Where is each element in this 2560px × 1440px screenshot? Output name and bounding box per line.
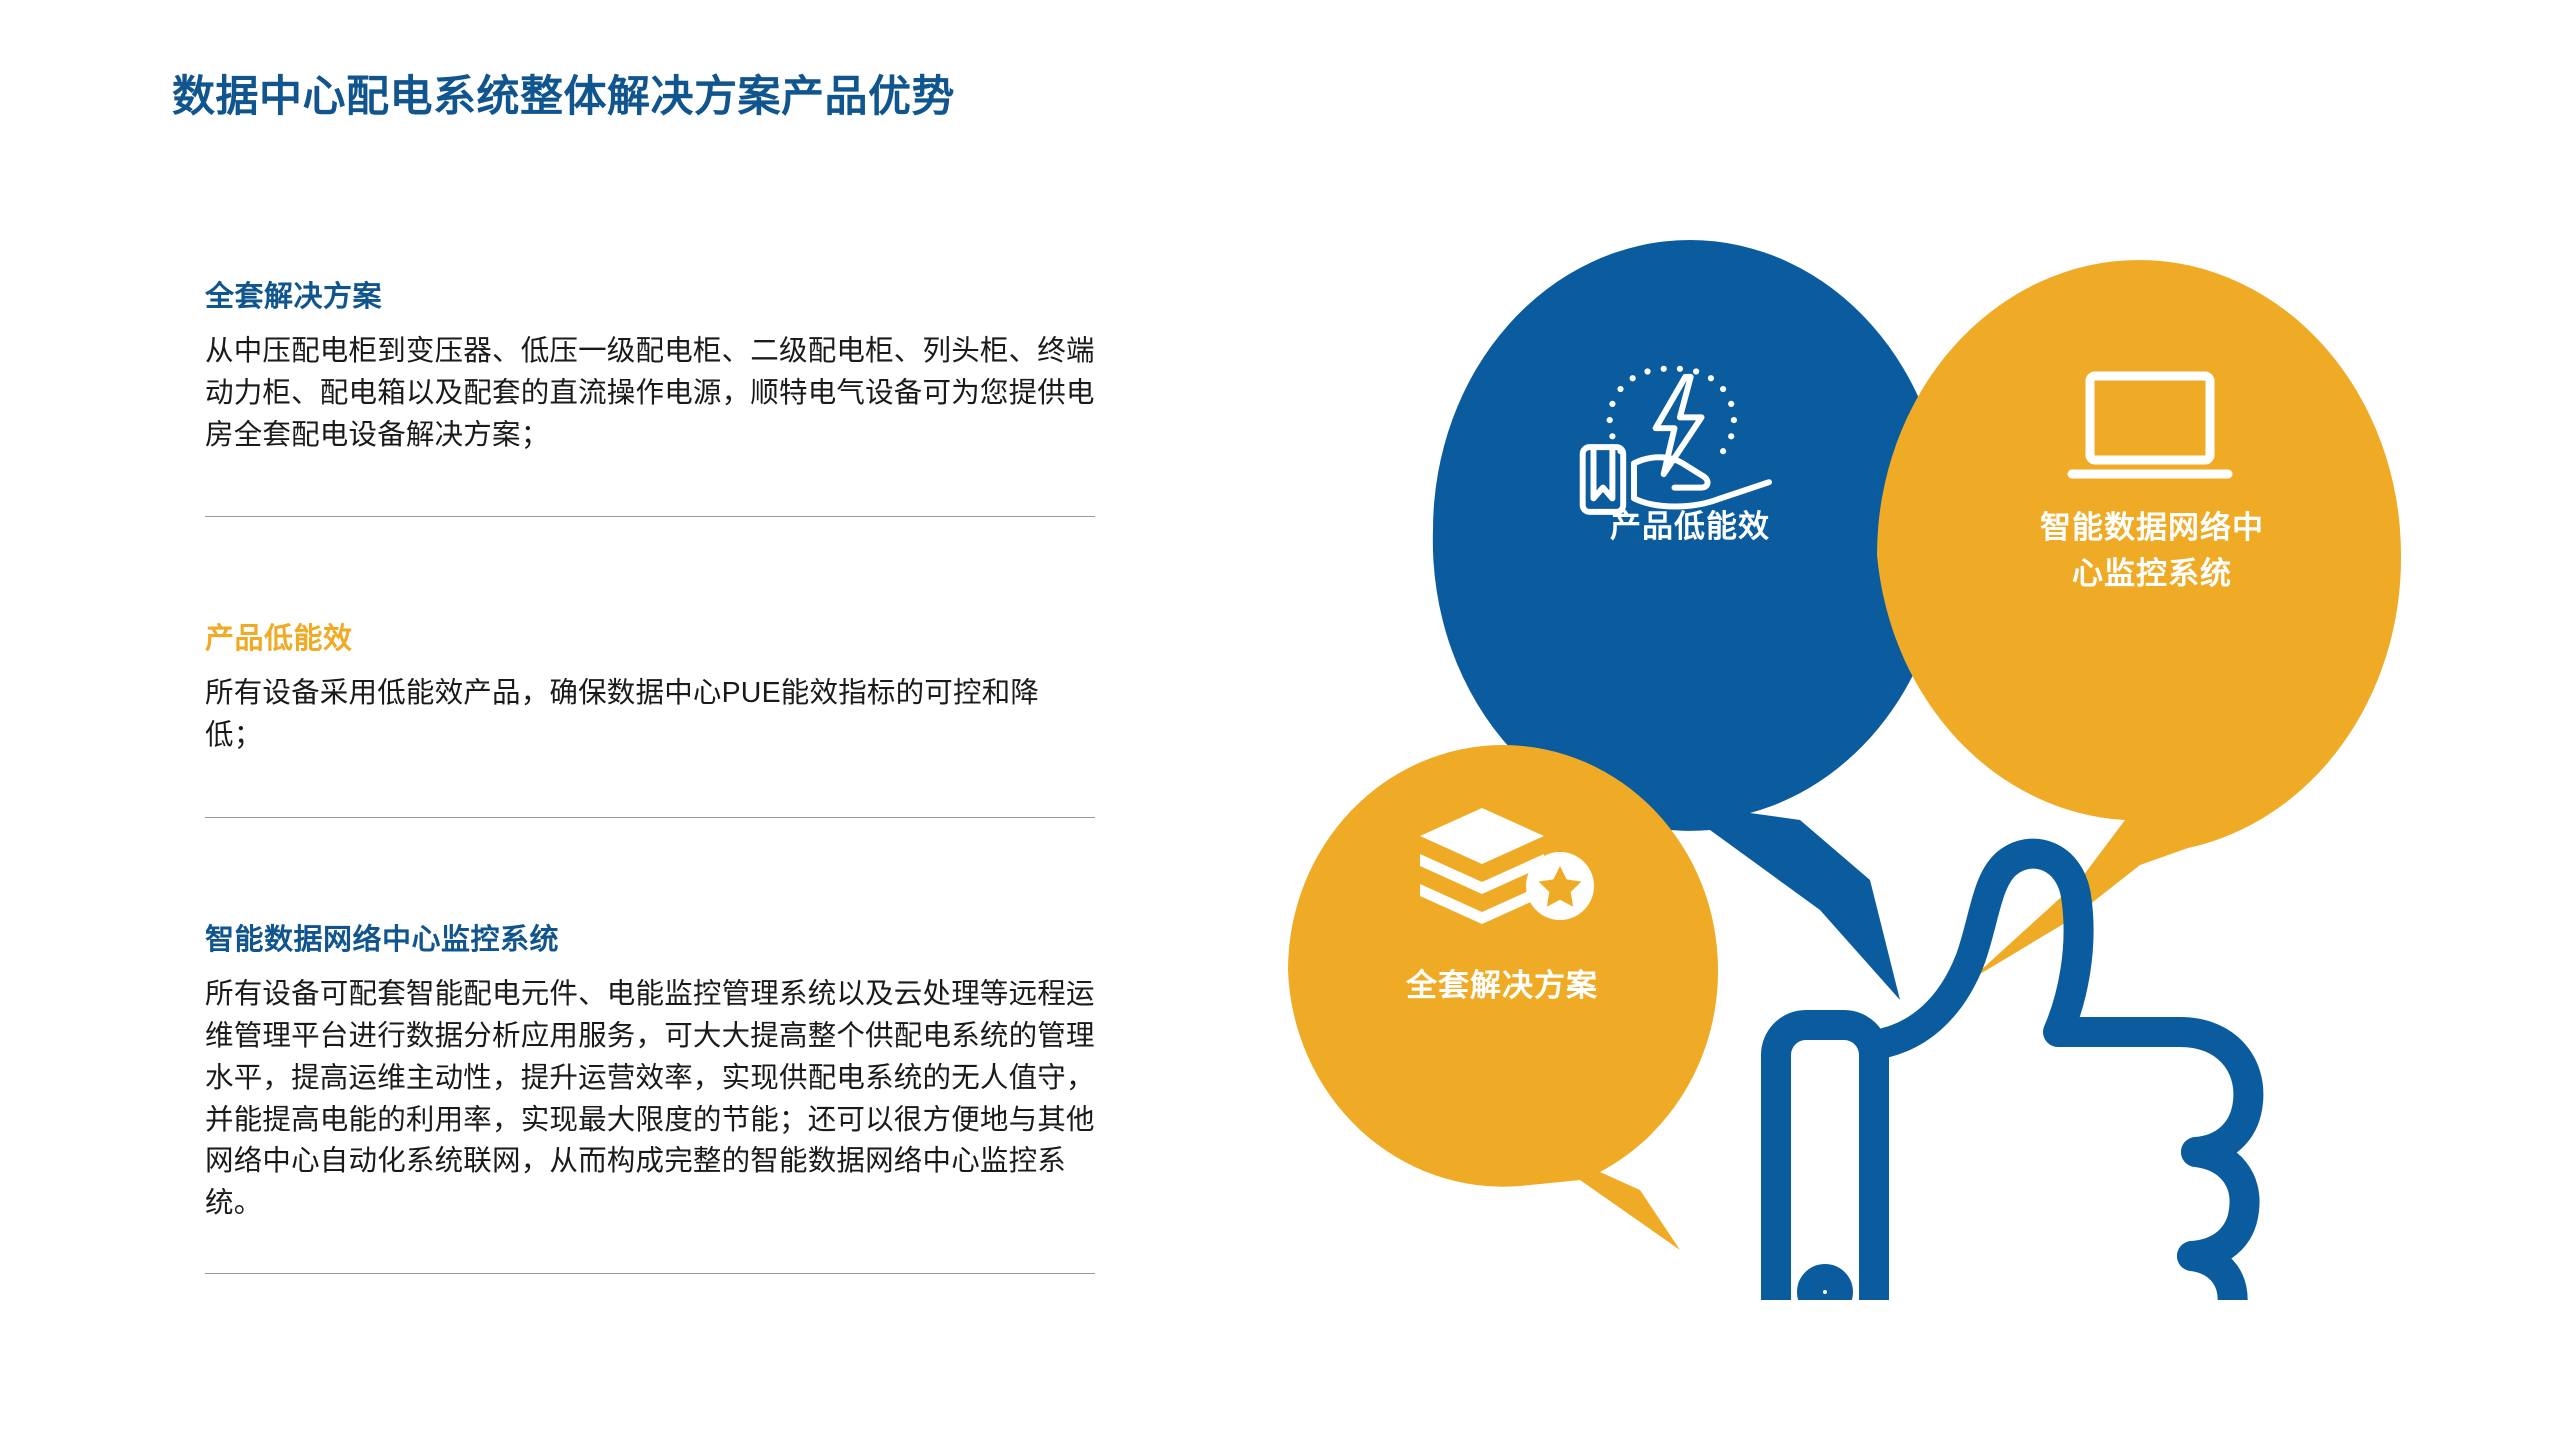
bubble-monitoring-label-line-1: 智能数据网络中: [2040, 510, 2264, 545]
bubble-monitoring-label-line-2: 心监控系统: [2072, 556, 2232, 591]
section-divider-3: [205, 1273, 1095, 1274]
feature-section-2: 产品低能效 所有设备采用低能效产品，确保数据中心PUE能效指标的可控和降低；: [205, 622, 1095, 757]
section-3-body: 所有设备可配套智能配电元件、电能监控管理系统以及云处理等远程运维管理平台进行数据…: [205, 974, 1095, 1225]
speech-bubble-illustration: 产品低能效 智能数据网络中 心监控系统: [1280, 120, 2560, 1300]
section-2-heading: 产品低能效: [205, 622, 1095, 657]
section-3-heading: 智能数据网络中心监控系统: [205, 923, 1095, 958]
slide-canvas: 数据中心配电系统整体解决方案产品优势 全套解决方案 从中压配电柜到变压器、低压一…: [0, 0, 2560, 1440]
feature-section-1: 全套解决方案 从中压配电柜到变压器、低压一级配电柜、二级配电柜、列头柜、终端动力…: [205, 280, 1095, 456]
section-1-heading: 全套解决方案: [205, 280, 1095, 315]
bubble-full-solution: 全套解决方案: [1288, 745, 1718, 1250]
feature-section-3: 智能数据网络中心监控系统 所有设备可配套智能配电元件、电能监控管理系统以及云处理…: [205, 923, 1095, 1225]
bubble-monitoring: 智能数据网络中 心监控系统: [1877, 260, 2401, 980]
content-column: 全套解决方案 从中压配电柜到变压器、低压一级配电柜、二级配电柜、列头柜、终端动力…: [205, 280, 1095, 1274]
spacer: [205, 1225, 1095, 1273]
bubble-low-energy-label: 产品低能效: [1610, 509, 1770, 544]
spacer: [205, 517, 1095, 622]
bubble-orange-top-shape: [1877, 260, 2401, 980]
spacer: [205, 456, 1095, 516]
spacer: [205, 757, 1095, 817]
section-2-body: 所有设备采用低能效产品，确保数据中心PUE能效指标的可控和降低；: [205, 673, 1095, 757]
section-1-body: 从中压配电柜到变压器、低压一级配电柜、二级配电柜、列头柜、终端动力柜、配电箱以及…: [205, 331, 1095, 457]
spacer: [205, 818, 1095, 923]
page-title: 数据中心配电系统整体解决方案产品优势: [172, 62, 955, 124]
bubble-full-solution-label: 全套解决方案: [1405, 968, 1598, 1003]
